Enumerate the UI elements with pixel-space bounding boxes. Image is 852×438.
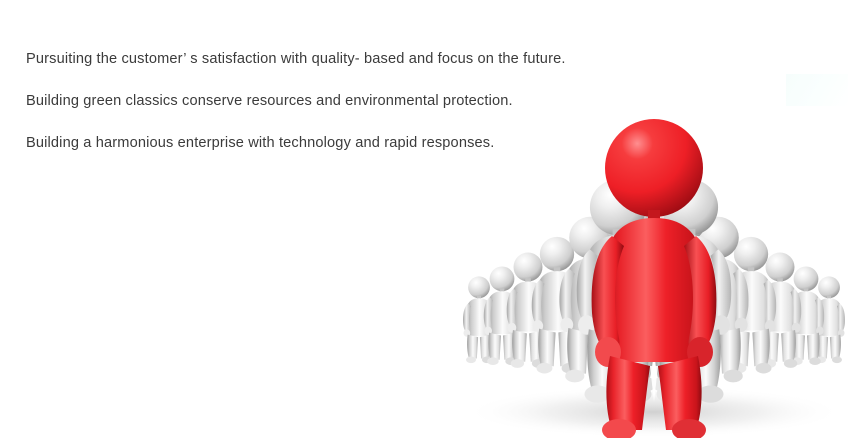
statement-line-2: Building green classics conserve resourc…: [26, 94, 626, 109]
statement-line-1: Pursuiting the customer’ s satisfaction …: [26, 52, 626, 67]
statement-line-3: Building a harmonious enterprise with te…: [26, 136, 626, 151]
slide-canvas: Pursuiting the customer’ s satisfaction …: [0, 0, 852, 438]
statement-list: Pursuiting the customer’ s satisfaction …: [26, 52, 626, 178]
